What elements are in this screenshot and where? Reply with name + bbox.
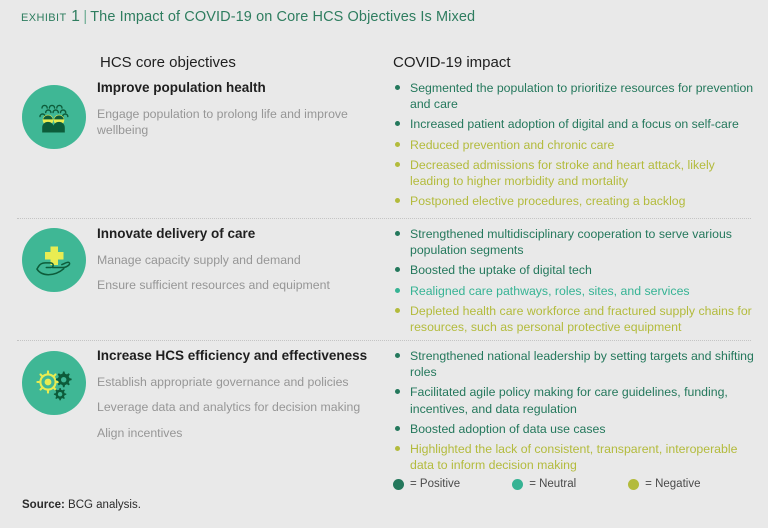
bullet-dot-icon [395,426,400,431]
exhibit-title-text: The Impact of COVID-19 on Core HCS Objec… [90,9,475,25]
source-label: Source: [22,499,65,511]
objective-subpoint: Align incentives [97,425,377,442]
exhibit-number-label: Exhibit 1 [21,8,80,25]
column-header-objectives: HCS core objectives [100,54,236,71]
bullet-dot-icon [395,121,400,126]
impact-item: Realigned care pathways, roles, sites, a… [393,283,755,299]
objective-text-block: Innovate delivery of care Manage capacit… [97,226,377,303]
impact-item: Highlighted the lack of consistent, tran… [393,441,755,473]
impact-text: Postponed elective procedures, creating … [410,194,686,208]
legend-swatch-negative-icon [628,479,639,490]
objective-subpoint: Engage population to prolong life and im… [97,106,377,139]
source-note: Source: BCG analysis. [22,499,141,511]
impact-item: Increased patient adoption of digital an… [393,116,755,132]
hand-cross-icon [22,228,86,292]
objective-subpoint: Ensure sufficient resources and equipmen… [97,277,377,294]
objective-title: Innovate delivery of care [97,226,377,243]
impact-item: Decreased admissions for stroke and hear… [393,157,755,189]
legend-swatch-neutral-icon [512,479,523,490]
title-separator: | [83,9,87,25]
legend-item-negative: = Negative [628,478,700,490]
legend-label: = Negative [645,478,700,490]
impact-text: Increased patient adoption of digital an… [410,117,739,131]
impact-text: Realigned care pathways, roles, sites, a… [410,284,690,298]
impact-item: Postponed elective procedures, creating … [393,193,755,209]
impact-item: Facilitated agile policy making for care… [393,384,755,416]
section-divider [17,340,751,341]
section-divider [17,218,751,219]
legend-label: = Positive [410,478,460,490]
objective-subpoint: Leverage data and analytics for decision… [97,399,377,416]
column-header-impact: COVID-19 impact [393,54,511,71]
impact-list: Strengthened national leadership by sett… [393,348,755,478]
impact-item: Depleted health care workforce and fract… [393,303,755,335]
bullet-dot-icon [395,142,400,147]
bullet-dot-icon [395,85,400,90]
objective-text-block: Increase HCS efficiency and effectivenes… [97,348,377,451]
impact-text: Boosted the uptake of digital tech [410,263,592,277]
impact-item: Boosted adoption of data use cases [393,421,755,437]
gears-icon [22,351,86,415]
bullet-dot-icon [395,267,400,272]
impact-list: Strengthened multidisciplinary cooperati… [393,226,755,339]
impact-text: Boosted adoption of data use cases [410,422,606,436]
legend-swatch-positive-icon [393,479,404,490]
objective-subpoint: Establish appropriate governance and pol… [97,374,377,391]
legend-label: = Neutral [529,478,576,490]
legend: = Positive = Neutral = Negative [393,478,700,490]
objective-subpoint: Manage capacity supply and demand [97,252,377,269]
source-text: BCG analysis. [68,499,141,511]
bullet-dot-icon [395,389,400,394]
impact-text: Decreased admissions for stroke and hear… [410,158,715,188]
bullet-dot-icon [395,308,400,313]
exhibit-title: Exhibit 1|The Impact of COVID-19 on Core… [21,8,475,26]
impact-item: Reduced prevention and chronic care [393,137,755,153]
bullet-dot-icon [395,446,400,451]
impact-text: Segmented the population to prioritize r… [410,81,753,111]
impact-item: Strengthened multidisciplinary cooperati… [393,226,755,258]
impact-text: Highlighted the lack of consistent, tran… [410,442,737,472]
objective-row-population-health: Improve population health Engage populat… [0,80,768,213]
bullet-dot-icon [395,198,400,203]
objective-title: Improve population health [97,80,377,97]
impact-text: Strengthened multidisciplinary cooperati… [410,227,732,257]
impact-item: Strengthened national leadership by sett… [393,348,755,380]
objective-title: Increase HCS efficiency and effectivenes… [97,348,377,365]
bullet-dot-icon [395,288,400,293]
objective-row-delivery-of-care: Innovate delivery of care Manage capacit… [0,226,768,338]
impact-item: Boosted the uptake of digital tech [393,262,755,278]
impact-text: Reduced prevention and chronic care [410,138,614,152]
population-health-icon [22,85,86,149]
objective-text-block: Improve population health Engage populat… [97,80,377,148]
bullet-dot-icon [395,231,400,236]
bullet-dot-icon [395,353,400,358]
legend-item-positive: = Positive [393,478,460,490]
objective-row-efficiency: Increase HCS efficiency and effectivenes… [0,348,768,468]
impact-text: Facilitated agile policy making for care… [410,385,728,415]
impact-list: Segmented the population to prioritize r… [393,80,755,214]
impact-item: Segmented the population to prioritize r… [393,80,755,112]
impact-text: Depleted health care workforce and fract… [410,304,752,334]
legend-item-neutral: = Neutral [512,478,576,490]
impact-text: Strengthened national leadership by sett… [410,349,754,379]
bullet-dot-icon [395,162,400,167]
